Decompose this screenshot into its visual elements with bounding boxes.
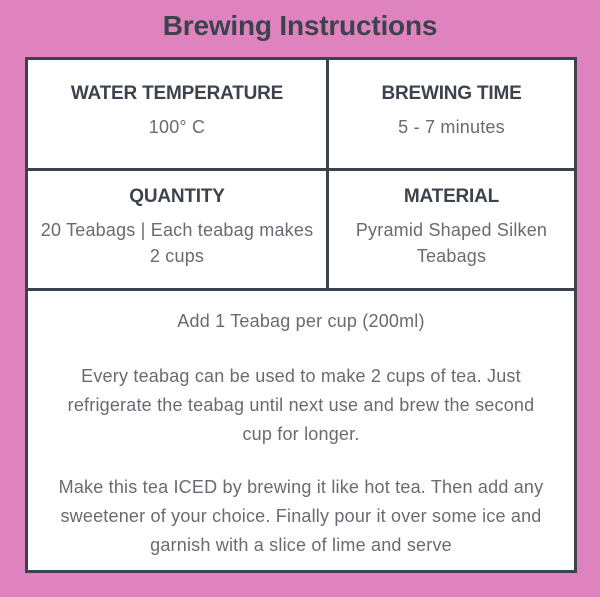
cell-value: 5 - 7 minutes bbox=[398, 114, 505, 140]
brewing-instructions-card: Brewing Instructions WATER TEMPERATURE 1… bbox=[0, 0, 600, 597]
cell-value: 100° C bbox=[149, 114, 205, 140]
notes-lead: Add 1 Teabag per cup (200ml) bbox=[177, 307, 424, 336]
cell-heading: MATERIAL bbox=[404, 186, 499, 208]
cell-quantity: QUANTITY 20 Teabags | Each teabag makes … bbox=[28, 171, 329, 288]
notes-paragraph-2: Make this tea ICED by brewing it like ho… bbox=[54, 473, 548, 560]
cell-heading: QUANTITY bbox=[129, 186, 225, 208]
cell-material: MATERIAL Pyramid Shaped Silken Teabags bbox=[329, 171, 574, 288]
notes-paragraph-1: Every teabag can be used to make 2 cups … bbox=[54, 362, 548, 449]
notes-section: Add 1 Teabag per cup (200ml) Every teaba… bbox=[28, 291, 574, 570]
cell-heading: BREWING TIME bbox=[381, 83, 521, 105]
table-row: WATER TEMPERATURE 100° C BREWING TIME 5 … bbox=[28, 60, 574, 171]
cell-heading: WATER TEMPERATURE bbox=[71, 83, 283, 105]
cell-value: Pyramid Shaped Silken Teabags bbox=[339, 217, 564, 269]
table-row: QUANTITY 20 Teabags | Each teabag makes … bbox=[28, 171, 574, 291]
cell-water-temperature: WATER TEMPERATURE 100° C bbox=[28, 60, 329, 168]
page-title: Brewing Instructions bbox=[0, 10, 600, 42]
cell-value: 20 Teabags | Each teabag makes 2 cups bbox=[38, 217, 316, 269]
specs-table: WATER TEMPERATURE 100° C BREWING TIME 5 … bbox=[25, 57, 577, 573]
cell-brewing-time: BREWING TIME 5 - 7 minutes bbox=[329, 60, 574, 168]
